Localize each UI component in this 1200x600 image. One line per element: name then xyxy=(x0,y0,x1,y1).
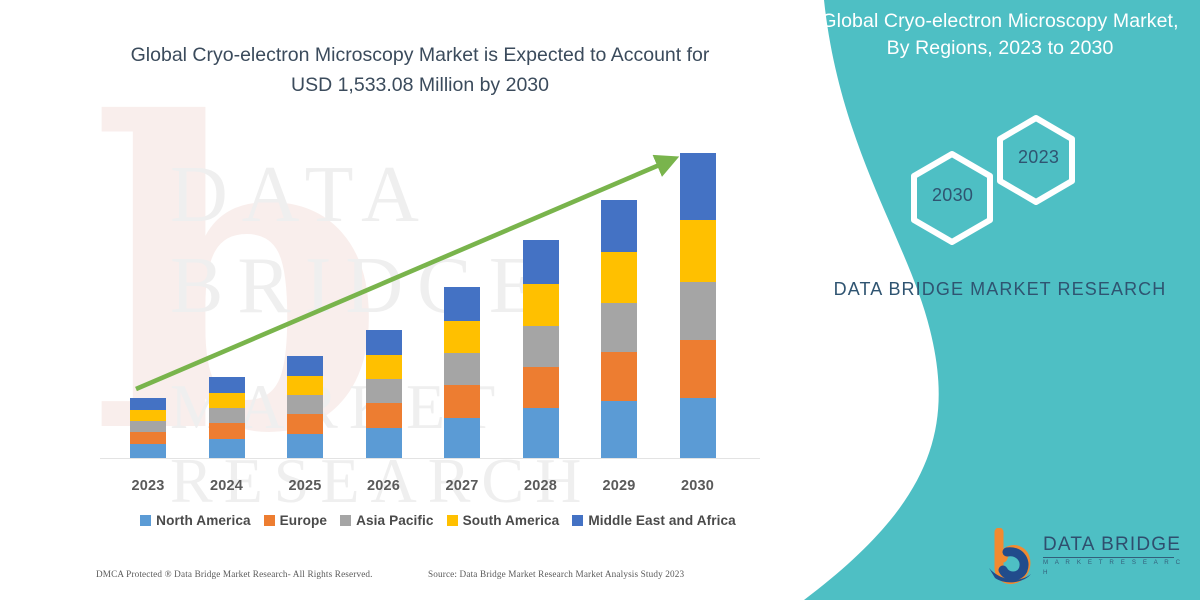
bar-segment-north-america-2025 xyxy=(287,434,323,458)
infographic-root: b DATA BRIDGE MARKET RESEARCH Global Cry… xyxy=(0,0,1200,600)
x-axis-label-2024: 2024 xyxy=(192,478,262,494)
right-brand-panel: Global Cryo-electron Microscopy Market, … xyxy=(780,0,1200,600)
legend-item-north-america[interactable]: North America xyxy=(140,513,250,528)
bar-segment-europe-2024 xyxy=(209,423,245,439)
bar-segment-europe-2029 xyxy=(601,352,637,401)
bar-segment-middle-east-and-africa-2030 xyxy=(680,153,716,220)
bar-segment-south-america-2026 xyxy=(366,355,402,379)
footer: DMCA Protected ® Data Bridge Market Rese… xyxy=(0,569,800,589)
bar-segment-middle-east-and-africa-2025 xyxy=(287,356,323,376)
bar-segment-middle-east-and-africa-2028 xyxy=(523,240,559,284)
bar-2029 xyxy=(601,200,637,458)
bar-segment-asia-pacific-2025 xyxy=(287,395,323,414)
bar-segment-europe-2028 xyxy=(523,367,559,408)
bar-segment-south-america-2028 xyxy=(523,284,559,326)
bar-2023 xyxy=(130,398,166,458)
legend-item-asia-pacific[interactable]: Asia Pacific xyxy=(340,513,434,528)
bar-segment-south-america-2023 xyxy=(130,410,166,421)
bar-2026 xyxy=(366,330,402,458)
bar-segment-asia-pacific-2027 xyxy=(444,353,480,385)
bar-segment-south-america-2029 xyxy=(601,252,637,303)
legend-item-europe[interactable]: Europe xyxy=(264,513,327,528)
hexagon-2023-label: 2023 xyxy=(1018,147,1059,168)
dbmr-logo-mark-icon xyxy=(985,528,1041,586)
legend-label: North America xyxy=(156,513,250,528)
hexagon-badges: 2023 2030 xyxy=(880,112,1130,232)
bar-segment-south-america-2025 xyxy=(287,376,323,395)
bar-2028 xyxy=(523,240,559,458)
bar-segment-europe-2027 xyxy=(444,385,480,418)
bar-segment-north-america-2027 xyxy=(444,418,480,458)
chart-plot-area: 20232024202520262027202820292030 North A… xyxy=(0,0,800,600)
legend-swatch-icon xyxy=(140,515,151,526)
bar-segment-middle-east-and-africa-2027 xyxy=(444,287,480,321)
dbmr-logo-subtitle: M A R K E T R E S E A R C H xyxy=(1043,558,1190,578)
footer-source: Source: Data Bridge Market Research Mark… xyxy=(428,569,684,579)
x-axis-label-2029: 2029 xyxy=(584,478,654,494)
bar-segment-south-america-2027 xyxy=(444,321,480,353)
bar-segment-asia-pacific-2030 xyxy=(680,282,716,340)
panel-heading: Global Cryo-electron Microscopy Market, … xyxy=(820,8,1180,62)
legend-swatch-icon xyxy=(572,515,583,526)
legend-label: South America xyxy=(463,513,560,528)
legend-label: Asia Pacific xyxy=(356,513,434,528)
bar-2025 xyxy=(287,356,323,458)
bar-segment-asia-pacific-2023 xyxy=(130,421,166,432)
dbmr-logo-text: DATA BRIDGE M A R K E T R E S E A R C H xyxy=(1043,534,1190,578)
bar-segment-north-america-2026 xyxy=(366,428,402,458)
bar-2024 xyxy=(209,377,245,458)
legend-label: Europe xyxy=(280,513,327,528)
bar-segment-middle-east-and-africa-2024 xyxy=(209,377,245,393)
x-axis-label-2026: 2026 xyxy=(349,478,419,494)
bar-segment-europe-2025 xyxy=(287,414,323,434)
bar-segment-europe-2026 xyxy=(366,403,402,428)
x-axis-label-2028: 2028 xyxy=(506,478,576,494)
dbmr-logo: DATA BRIDGE M A R K E T R E S E A R C H xyxy=(985,528,1190,586)
x-axis-label-2027: 2027 xyxy=(427,478,497,494)
bar-segment-north-america-2028 xyxy=(523,408,559,458)
bar-segment-north-america-2023 xyxy=(130,444,166,458)
legend-label: Middle East and Africa xyxy=(588,513,735,528)
bar-segment-asia-pacific-2028 xyxy=(523,326,559,367)
x-axis-label-2030: 2030 xyxy=(663,478,733,494)
dbmr-logo-name: DATA BRIDGE xyxy=(1043,534,1190,556)
bar-segment-asia-pacific-2026 xyxy=(366,379,402,403)
bar-segment-middle-east-and-africa-2029 xyxy=(601,200,637,252)
bar-segment-europe-2030 xyxy=(680,340,716,398)
bar-segment-north-america-2029 xyxy=(601,401,637,458)
x-axis-label-2025: 2025 xyxy=(270,478,340,494)
legend-item-south-america[interactable]: South America xyxy=(447,513,560,528)
bar-segment-north-america-2030 xyxy=(680,398,716,458)
panel-brand-text: DATA BRIDGE MARKET RESEARCH xyxy=(820,275,1180,303)
footer-copyright: DMCA Protected ® Data Bridge Market Rese… xyxy=(96,569,373,579)
bar-segment-south-america-2024 xyxy=(209,393,245,408)
bar-segment-asia-pacific-2024 xyxy=(209,408,245,423)
legend-swatch-icon xyxy=(264,515,275,526)
bar-segment-asia-pacific-2029 xyxy=(601,303,637,352)
bar-2027 xyxy=(444,287,480,458)
bar-segment-europe-2023 xyxy=(130,432,166,444)
legend-swatch-icon xyxy=(340,515,351,526)
bar-segment-north-america-2024 xyxy=(209,439,245,458)
bar-segment-south-america-2030 xyxy=(680,220,716,282)
legend-swatch-icon xyxy=(447,515,458,526)
x-axis-label-2023: 2023 xyxy=(113,478,183,494)
bar-segment-middle-east-and-africa-2023 xyxy=(130,398,166,410)
chart-legend: North AmericaEuropeAsia PacificSouth Ame… xyxy=(108,513,768,528)
bar-2030 xyxy=(680,153,716,458)
hexagon-2030-label: 2030 xyxy=(932,185,973,206)
bar-segment-middle-east-and-africa-2026 xyxy=(366,330,402,355)
legend-item-middle-east-and-africa[interactable]: Middle East and Africa xyxy=(572,513,735,528)
